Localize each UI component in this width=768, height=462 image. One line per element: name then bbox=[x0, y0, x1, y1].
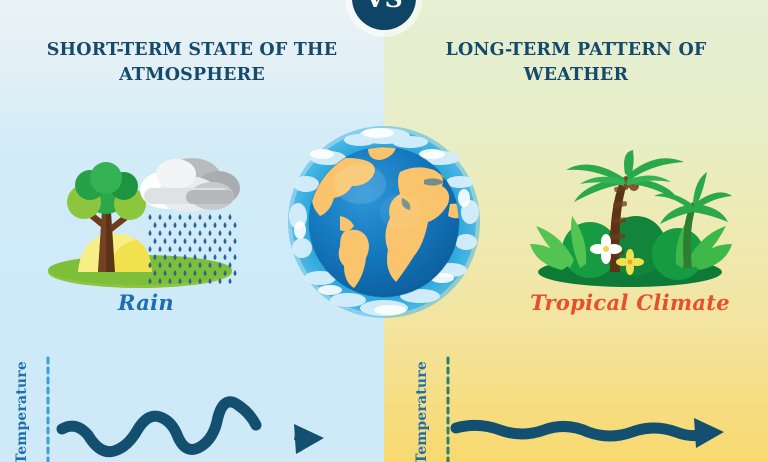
tropical-scene-icon bbox=[528, 150, 733, 290]
heading-weather: WEATHER bbox=[0, 0, 384, 6]
earth-globe-icon bbox=[282, 120, 486, 324]
axis-label-climate: Temperature bbox=[414, 361, 430, 462]
rain-scene-icon bbox=[40, 140, 245, 290]
heading-climate: CLIMATE bbox=[384, 0, 768, 6]
subtitle-climate: LONG-TERM PATTERN OF WEATHER bbox=[411, 38, 741, 88]
subtitle-weather: SHORT-TERM STATE OF THE ATMOSPHERE bbox=[27, 38, 357, 88]
label-tropical: Tropical Climate bbox=[510, 290, 750, 315]
chart-weather-temperature bbox=[0, 352, 384, 462]
chart-climate-temperature bbox=[384, 352, 768, 462]
infographic-root: WEATHER CLIMATE SHORT-TERM STATE OF THE … bbox=[0, 0, 768, 462]
axis-label-weather: Temperature bbox=[14, 361, 30, 462]
label-rain: Rain bbox=[26, 290, 266, 315]
